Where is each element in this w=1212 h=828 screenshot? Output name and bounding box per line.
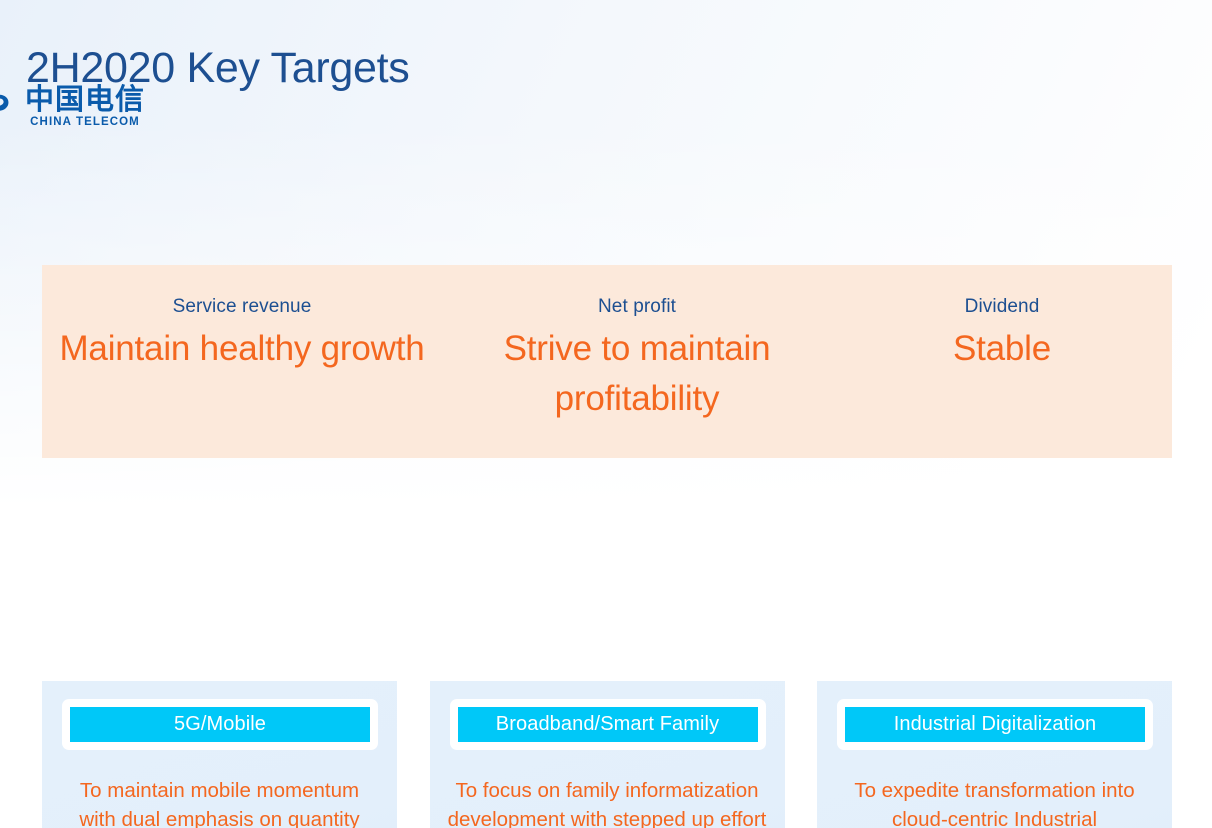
card-statement: To expedite transformation into cloud-ce… (835, 777, 1154, 828)
pillar-card-5g-mobile: 5G/Mobile To maintain mobile momentum wi… (42, 681, 397, 828)
card-badge-label: Broadband/Smart Family (496, 713, 719, 736)
card-badge-label: 5G/Mobile (174, 713, 266, 736)
summary-column-net-profit: Net profit Strive to maintain profitabil… (442, 265, 832, 458)
card-badge[interactable]: Broadband/Smart Family (458, 707, 758, 742)
summary-label: Service revenue (173, 296, 312, 318)
brand-name-english: CHINA TELECOM (30, 117, 140, 129)
card-badge-frame: Broadband/Smart Family (450, 699, 766, 750)
pillar-cards-row: 5G/Mobile To maintain mobile momentum wi… (42, 681, 1172, 828)
summary-label: Net profit (598, 296, 676, 318)
card-badge[interactable]: Industrial Digitalization (845, 707, 1145, 742)
pillar-card-broadband-smart-family: Broadband/Smart Family To focus on famil… (430, 681, 785, 828)
card-badge[interactable]: 5G/Mobile (70, 707, 370, 742)
slide-canvas: 2H2020 Key Targets 中国电信 CHINA TELECOM Se… (0, 0, 1212, 828)
summary-column-dividend: Dividend Stable (832, 265, 1172, 458)
card-statement: To focus on family informatization devel… (448, 777, 767, 828)
card-badge-label: Industrial Digitalization (894, 713, 1097, 736)
china-telecom-mark-icon (0, 85, 16, 129)
summary-value: Strive to maintain profitability (442, 324, 832, 423)
china-telecom-logo: 中国电信 CHINA TELECOM (0, 85, 1178, 129)
summary-value: Maintain healthy growth (59, 324, 424, 374)
summary-label: Dividend (965, 296, 1040, 318)
summary-column-service-revenue: Service revenue Maintain healthy growth (42, 265, 442, 458)
card-badge-frame: 5G/Mobile (62, 699, 378, 750)
card-statement: To maintain mobile momentum with dual em… (60, 777, 379, 828)
summary-banner: Service revenue Maintain healthy growth … (42, 265, 1172, 458)
card-badge-frame: Industrial Digitalization (837, 699, 1153, 750)
pillar-card-industrial-digitalization: Industrial Digitalization To expedite tr… (817, 681, 1172, 828)
brand-name-chinese: 中国电信 (25, 85, 145, 114)
summary-value: Stable (953, 324, 1051, 374)
brand-wordmark: 中国电信 CHINA TELECOM (25, 85, 145, 129)
